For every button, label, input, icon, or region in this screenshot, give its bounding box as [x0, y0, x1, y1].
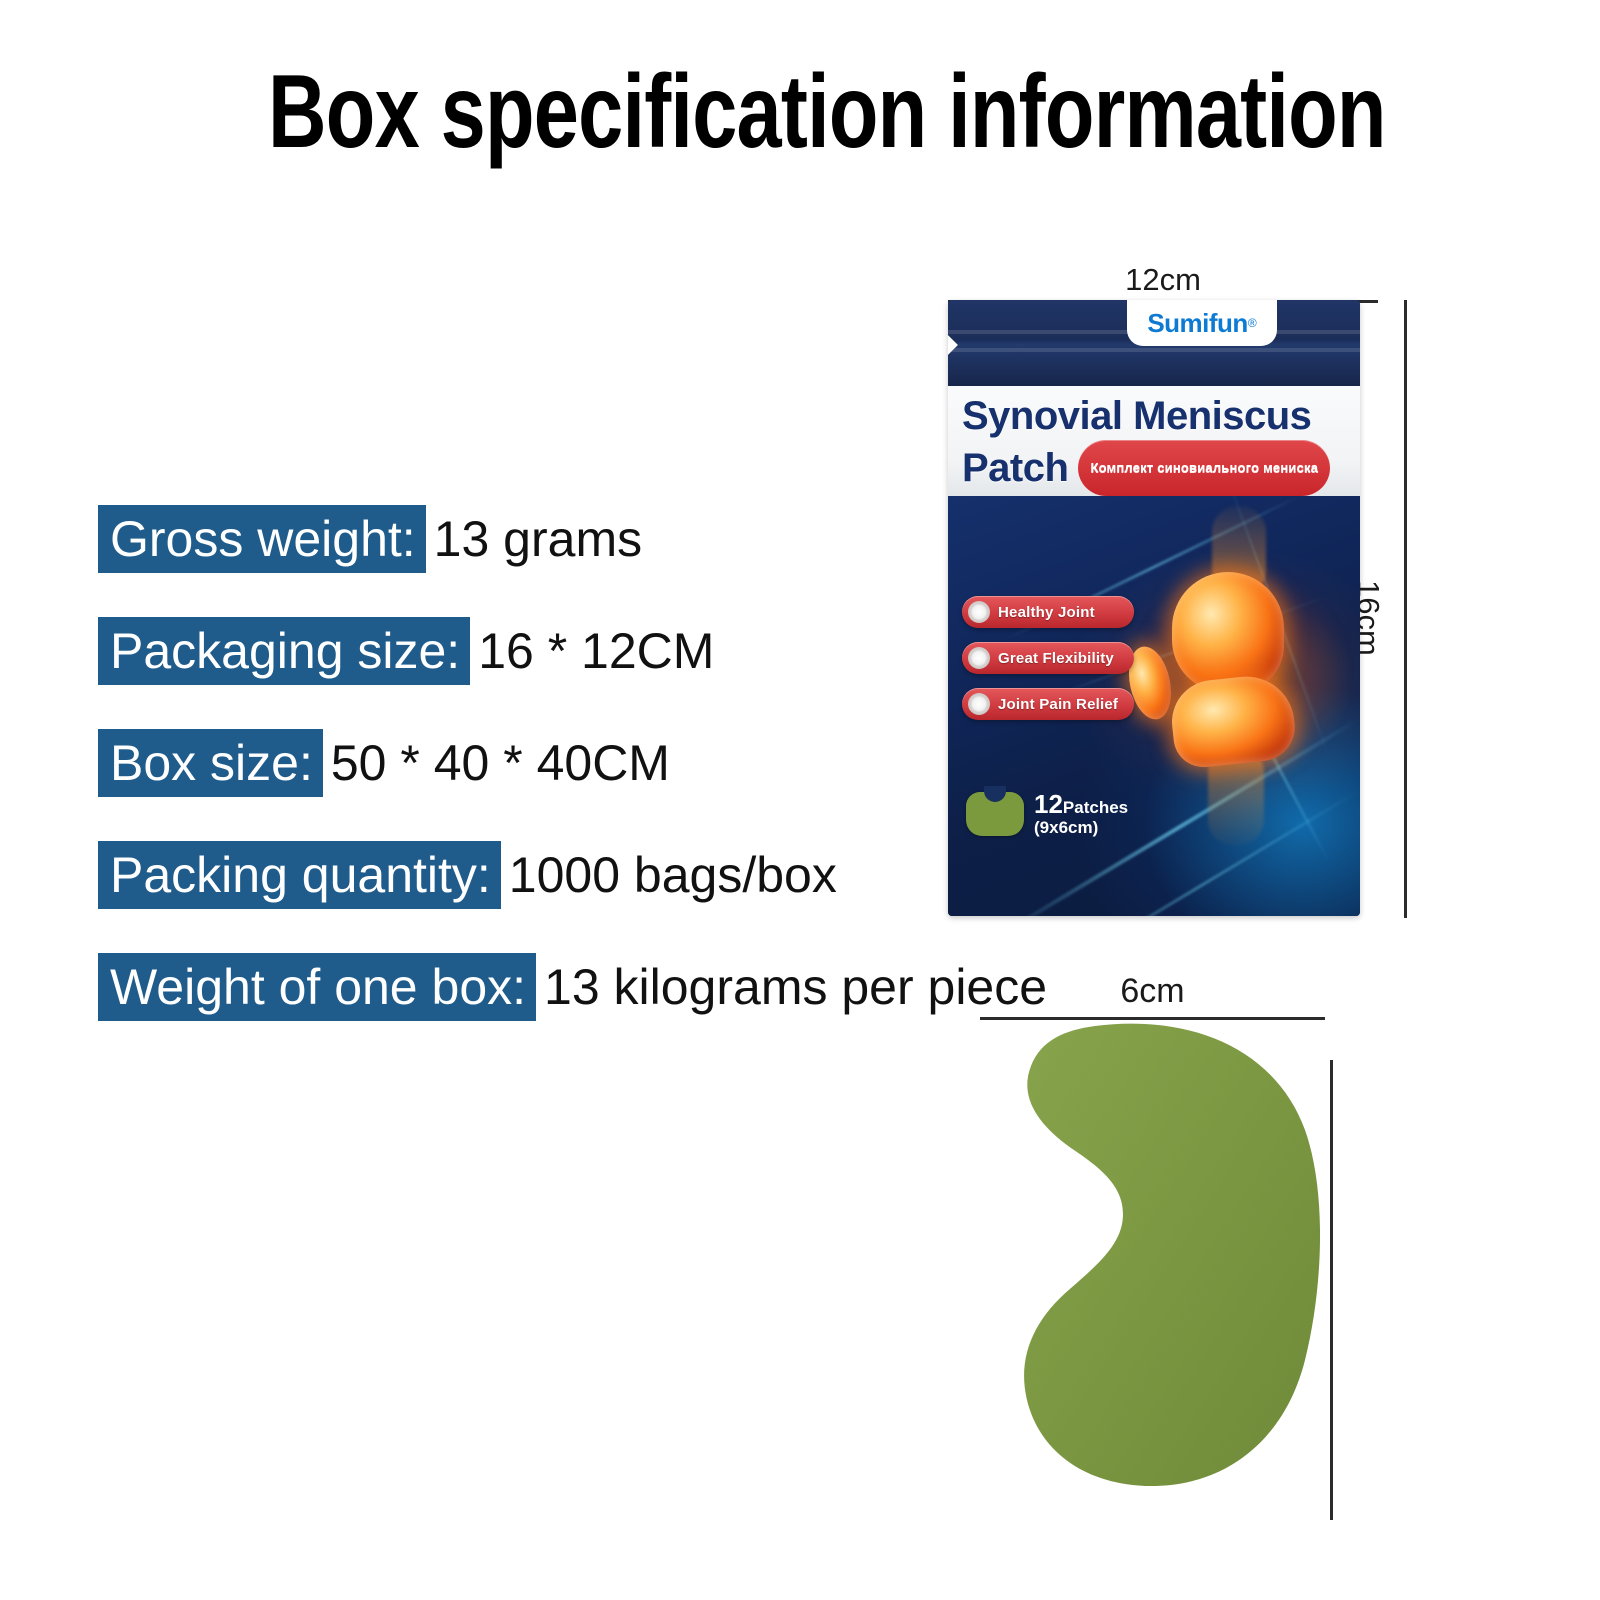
spec-value-gross-weight: 13 grams	[426, 505, 642, 573]
spec-row-weight-of-one-box: Weight of one box: 13 kilograms per piec…	[98, 953, 1038, 1021]
spec-label-packaging-size: Packaging size:	[98, 617, 470, 685]
patch-count-text: 12Patches (9x6cm)	[1034, 789, 1128, 838]
patch-count-row: 12Patches (9x6cm)	[966, 789, 1128, 838]
pouch: Sumifun® Synovial Meniscus Patch Комплек…	[948, 300, 1360, 916]
patch-silhouette-icon	[975, 1020, 1320, 1490]
patch-count-size: (9x6cm)	[1034, 818, 1128, 838]
feature-badge-joint-pain-relief: Joint Pain Relief	[962, 688, 1134, 720]
spec-row-box-size: Box size: 50 * 40 * 40CM	[98, 729, 1038, 797]
patch-count-word: Patches	[1063, 798, 1128, 817]
spec-value-box-size: 50 * 40 * 40CM	[323, 729, 670, 797]
feature-badge-great-flexibility: Great Flexibility	[962, 642, 1134, 674]
product-title-line2: Patch	[962, 444, 1068, 492]
spec-value-packing-quantity: 1000 bags/box	[501, 841, 837, 909]
feature-label: Great Flexibility	[998, 650, 1114, 667]
patch-product-image	[975, 1020, 1320, 1490]
pouch-artwork-panel: Healthy Joint Great Flexibility Joint Pa…	[948, 496, 1360, 916]
spec-row-packaging-size: Packaging size: 16 * 12CM	[98, 617, 1038, 685]
pouch-title-band: Synovial Meniscus Patch Комплект синовиа…	[948, 386, 1360, 496]
package-width-dimension-label: 12cm	[948, 262, 1378, 298]
page-title: Box specification information	[268, 62, 1095, 162]
bullet-circle-icon	[968, 693, 990, 715]
trademark-icon: ®	[1248, 316, 1257, 330]
spec-value-weight-of-one-box: 13 kilograms per piece	[536, 953, 1047, 1021]
bullet-circle-icon	[968, 647, 990, 669]
feature-badge-list: Healthy Joint Great Flexibility Joint Pa…	[962, 596, 1134, 720]
spec-label-gross-weight: Gross weight:	[98, 505, 426, 573]
brand-tab: Sumifun®	[1127, 300, 1277, 346]
femur-condyle	[1172, 572, 1284, 692]
spec-row-packing-quantity: Packing quantity: 1000 bags/box	[98, 841, 1038, 909]
spec-list: Gross weight: 13 grams Packaging size: 1…	[98, 505, 1038, 1065]
product-title-line2-row: Patch Комплект синовиального мениска	[962, 440, 1360, 496]
spec-value-packaging-size: 16 * 12CM	[470, 617, 714, 685]
product-title-line1: Synovial Meniscus	[962, 392, 1360, 440]
brand-name: Sumifun	[1147, 308, 1248, 339]
spec-label-box-size: Box size:	[98, 729, 323, 797]
feature-badge-healthy-joint: Healthy Joint	[962, 596, 1134, 628]
patch-width-dimension-label: 6cm	[980, 972, 1325, 1011]
knee-joint-illustration	[1116, 520, 1360, 810]
spec-row-gross-weight: Gross weight: 13 grams	[98, 505, 1038, 573]
package-height-dimension-line	[1404, 300, 1407, 918]
product-package-image: Sumifun® Synovial Meniscus Patch Комплек…	[948, 300, 1360, 916]
patch-height-dimension-line	[1330, 1060, 1333, 1520]
tear-notch-icon	[948, 335, 958, 355]
bullet-circle-icon	[968, 601, 990, 623]
patch-thumbnail-icon	[966, 792, 1024, 836]
spec-label-weight-of-one-box: Weight of one box:	[98, 953, 536, 1021]
feature-label: Joint Pain Relief	[998, 696, 1118, 713]
feature-label: Healthy Joint	[998, 604, 1095, 621]
spec-label-packing-quantity: Packing quantity:	[98, 841, 501, 909]
patch-count-number: 12	[1034, 789, 1063, 819]
russian-subtitle-badge: Комплект синовиального мениска	[1078, 440, 1330, 496]
